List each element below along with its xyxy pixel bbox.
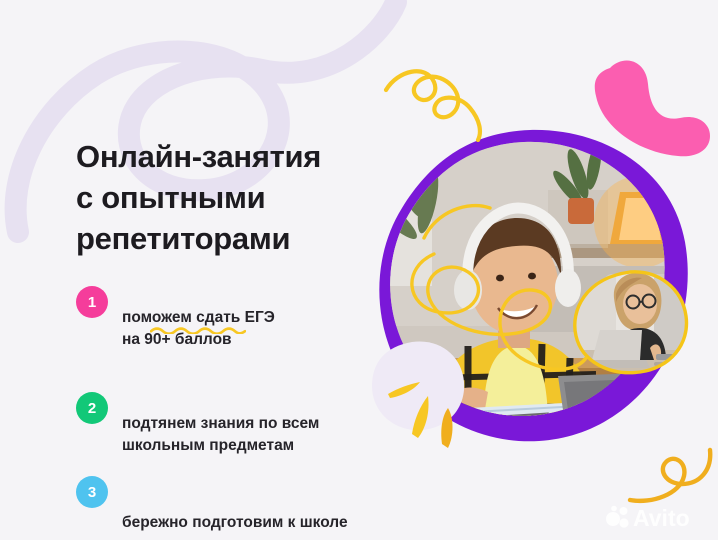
promo-banner: Онлайн-занятия с опытными репетиторами 1… [0, 0, 718, 540]
avito-watermark: Avito [604, 503, 706, 531]
feature-list: 1 поможем сдать ЕГЭ на 90+ баллов 2 подт… [76, 285, 396, 539]
wavy-underline-icon [150, 327, 246, 334]
tutor-inset [570, 268, 690, 376]
feature-badge-3: 3 [76, 476, 108, 508]
feature-label-2: подтянем знания по всем школьным предмет… [122, 415, 319, 454]
feature-text-1: поможем сдать ЕГЭ на 90+ баллов [122, 285, 275, 373]
feature-text-2: подтянем знания по всем школьным предмет… [122, 391, 319, 457]
page-title: Онлайн-занятия с опытными репетиторами [76, 136, 386, 259]
list-item: 2 подтянем знания по всем школьным предм… [76, 391, 396, 457]
avito-watermark-label: Avito [633, 505, 690, 531]
feature-label-3: бережно подготовим к школе [122, 514, 348, 531]
feature-badge-2: 2 [76, 392, 108, 424]
feature-text-3: бережно подготовим к школе [122, 475, 348, 539]
feature-badge-1: 1 [76, 286, 108, 318]
student-photo [372, 126, 690, 444]
list-item: 3 бережно подготовим к школе [76, 475, 396, 539]
list-item: 1 поможем сдать ЕГЭ на 90+ баллов [76, 285, 396, 373]
